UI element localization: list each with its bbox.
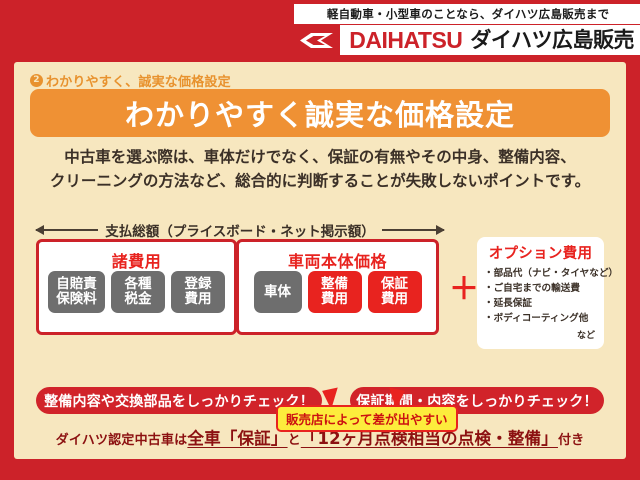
brand-name-jp: ダイハツ広島販売: [470, 25, 640, 55]
cost-chip-warranty: 保証 費用: [368, 271, 422, 313]
option-cost-suffix: など: [484, 328, 597, 341]
dealer-logo-block: 軽自動車・小型車のことなら、ダイハツ広島販売まで DAIHATSU ダイハツ広島…: [294, 4, 640, 55]
plus-icon: ＋: [449, 275, 479, 305]
chip-line-1: 整備: [313, 277, 357, 292]
section-number-badge: 2: [30, 74, 43, 87]
cost-chip-list: 自賠責 保険料 各種 税金 登録 費用: [39, 271, 234, 313]
header-tagline: 軽自動車・小型車のことなら、ダイハツ広島販売まで: [294, 4, 640, 24]
arrow-left-icon: [36, 229, 98, 231]
footline-connector: と: [288, 433, 301, 448]
cost-group-misc-fees: 諸費用 自賠責 保険料 各種 税金 登録 費用: [36, 239, 237, 335]
cost-group-title: 車両本体価格: [239, 248, 436, 272]
cost-chip-maintenance: 整備 費用: [308, 271, 362, 313]
brand-name-latin: DAIHATSU: [340, 25, 470, 55]
daihatsu-d-mark-icon: [294, 25, 340, 55]
chip-line-2: 費用: [176, 292, 220, 307]
chip-line-2: 費用: [373, 292, 417, 307]
chip-line-2: 費用: [313, 292, 357, 307]
option-item-body-coating: ・ボディコーティング他: [484, 312, 597, 327]
cost-breakdown-area: 諸費用 自賠責 保険料 各種 税金 登録 費用 車両本体価格: [36, 239, 604, 359]
lead-line-1: 中古車を選ぶ際は、車体だけでなく、保証の有無やその中身、整備内容、: [14, 146, 626, 170]
footline-suffix: 付き: [558, 433, 584, 448]
option-cost-list: ・部品代（ナビ・タイヤなど） ・ご自宅までの輸送費 ・延長保証 ・ボディコーティ…: [484, 267, 597, 326]
lead-line-2: クリーニングの方法など、総合的に判断することが失敗しないポイントです。: [14, 170, 626, 194]
cost-group-title: 諸費用: [39, 248, 234, 272]
cost-group-vehicle-price: 車両本体価格 車体 整備 費用 保証 費用: [236, 239, 439, 335]
dealer-difference-callout: 販売店によって差が出やすい: [276, 405, 458, 432]
total-price-bracket: 支払総額（プライスボード・ネット掲示額）: [36, 220, 444, 240]
cost-chip-body: 車体: [254, 271, 302, 313]
total-price-label: 支払総額（プライスボード・ネット掲示額）: [105, 220, 375, 240]
footline-emphasis-warranty: 全車「保証」: [187, 429, 287, 448]
cost-chip-registration: 登録 費用: [171, 271, 225, 313]
footline-prefix: ダイハツ認定中古車は: [56, 433, 188, 448]
chip-line-1: 登録: [176, 277, 220, 292]
brand-logo-row: DAIHATSU ダイハツ広島販売: [294, 25, 640, 55]
section-title-banner: わかりやすく誠実な価格設定: [30, 89, 610, 137]
cost-chip-jibaiseki: 自賠責 保険料: [48, 271, 105, 313]
chip-line-2: 税金: [116, 292, 160, 307]
option-item-transport: ・ご自宅までの輸送費: [484, 282, 597, 297]
chip-line-1: 車体: [261, 285, 295, 300]
option-cost-title: オプション費用: [484, 242, 597, 263]
option-item-parts: ・部品代（ナビ・タイヤなど）: [484, 267, 597, 282]
chip-line-1: 自賠責: [53, 277, 100, 292]
chip-line-1: 保証: [373, 277, 417, 292]
check-pill-text: 整備内容や交換部品をしっかりチェック！: [44, 391, 314, 411]
section-kicker: 2 わかりやすく、誠実な価格設定: [30, 71, 231, 90]
cost-chip-taxes: 各種 税金: [111, 271, 165, 313]
page-footer-bar: [0, 459, 640, 480]
content-panel: 2 わかりやすく、誠実な価格設定 わかりやすく誠実な価格設定 中古車を選ぶ際は、…: [14, 62, 626, 459]
page-header: 軽自動車・小型車のことなら、ダイハツ広島販売まで DAIHATSU ダイハツ広島…: [0, 0, 640, 62]
option-cost-box: オプション費用 ・部品代（ナビ・タイヤなど） ・ご自宅までの輸送費 ・延長保証 …: [477, 237, 604, 349]
lead-paragraph: 中古車を選ぶ際は、車体だけでなく、保証の有無やその中身、整備内容、 クリーニング…: [14, 146, 626, 193]
chip-line-1: 各種: [116, 277, 160, 292]
section-title-text: わかりやすく誠実な価格設定: [125, 92, 515, 134]
chip-line-2: 保険料: [53, 292, 100, 307]
section-kicker-text: わかりやすく、誠実な価格設定: [46, 71, 231, 90]
option-item-extended-warranty: ・延長保証: [484, 297, 597, 312]
arrow-right-icon: [382, 229, 444, 231]
cost-chip-list: 車体 整備 費用 保証 費用: [239, 271, 436, 313]
